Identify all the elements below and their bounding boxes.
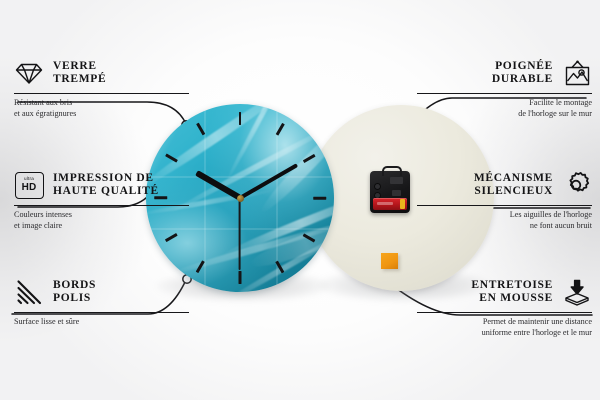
feature-subtitle: Permet de maintenir une distance uniform…	[417, 317, 592, 338]
ultra-hd-badge-icon: ultra HD	[14, 170, 44, 200]
feature-divider	[14, 93, 189, 94]
mechanism-hanger-tab	[382, 166, 402, 176]
feature-block-impression-haute-qualite: ultra HD IMPRESSION DE HAUTE QUALITÉ Cou…	[14, 168, 189, 231]
clock-mechanism-module	[370, 171, 410, 213]
feature-divider	[417, 93, 592, 94]
feature-subtitle: Couleurs intenses et image claire	[14, 210, 189, 231]
gear-icon	[562, 170, 592, 200]
feature-title: BORDS POLIS	[53, 279, 96, 306]
picture-hanger-icon	[562, 58, 592, 88]
hd-badge: ultra HD	[15, 172, 44, 199]
mechanism-slot-upper	[390, 177, 403, 184]
feature-title: MÉCANISME SILENCIEUX	[474, 172, 553, 199]
feature-block-verre-trempe: VERRE TREMPÉ Résistant aux bris et aux é…	[14, 56, 189, 119]
feature-block-entretoise-en-mousse: ENTRETOISE EN MOUSSE Permet de maintenir…	[417, 275, 592, 338]
feature-divider	[14, 312, 189, 313]
diamond-icon	[14, 58, 44, 88]
feature-divider	[14, 205, 189, 206]
feature-subtitle: Résistant aux bris et aux égratignures	[14, 98, 189, 119]
clock-hand-cap	[237, 195, 244, 202]
feature-block-mecanisme-silencieux: MÉCANISME SILENCIEUX Les aiguilles de l'…	[417, 168, 592, 231]
foam-spacer-pad	[381, 253, 398, 269]
foam-spacer-icon	[562, 277, 592, 307]
clock-tick	[239, 112, 242, 125]
mechanism-slot-lower	[392, 190, 401, 196]
battery-band	[377, 202, 393, 205]
feature-header: BORDS POLIS	[14, 275, 189, 309]
feature-subtitle: Facilite le montage de l'horloge sur le …	[417, 98, 592, 119]
feature-divider	[417, 205, 592, 206]
clock-tick	[239, 271, 242, 284]
clock-second-hand	[239, 198, 241, 270]
feature-block-poignee-durable: POIGNÉE DURABLE Facilite le montage de l…	[417, 56, 592, 119]
feature-block-bords-polis: BORDS POLIS Surface lisse et sûre	[14, 275, 189, 328]
hd-badge-main-label: HD	[22, 183, 37, 193]
feature-title: POIGNÉE DURABLE	[492, 60, 553, 87]
infographic-canvas: VERRE TREMPÉ Résistant aux bris et aux é…	[0, 0, 600, 400]
feature-divider	[417, 312, 592, 313]
feature-title: IMPRESSION DE HAUTE QUALITÉ	[53, 172, 159, 199]
battery-cap	[400, 199, 405, 209]
feature-header: VERRE TREMPÉ	[14, 56, 189, 90]
feature-header: POIGNÉE DURABLE	[417, 56, 592, 90]
polished-edge-icon	[14, 277, 44, 307]
battery	[373, 198, 407, 210]
feature-header: MÉCANISME SILENCIEUX	[417, 168, 592, 202]
feature-title: ENTRETOISE EN MOUSSE	[471, 279, 553, 306]
feature-title: VERRE TREMPÉ	[53, 60, 106, 87]
feature-subtitle: Les aiguilles de l'horloge ne font aucun…	[417, 210, 592, 231]
feature-subtitle: Surface lisse et sûre	[14, 317, 189, 328]
clock-tick	[165, 233, 178, 242]
feature-header: ultra HD IMPRESSION DE HAUTE QUALITÉ	[14, 168, 189, 202]
mechanism-dial-1	[374, 183, 381, 190]
clock-tick	[313, 197, 326, 200]
feature-header: ENTRETOISE EN MOUSSE	[417, 275, 592, 309]
